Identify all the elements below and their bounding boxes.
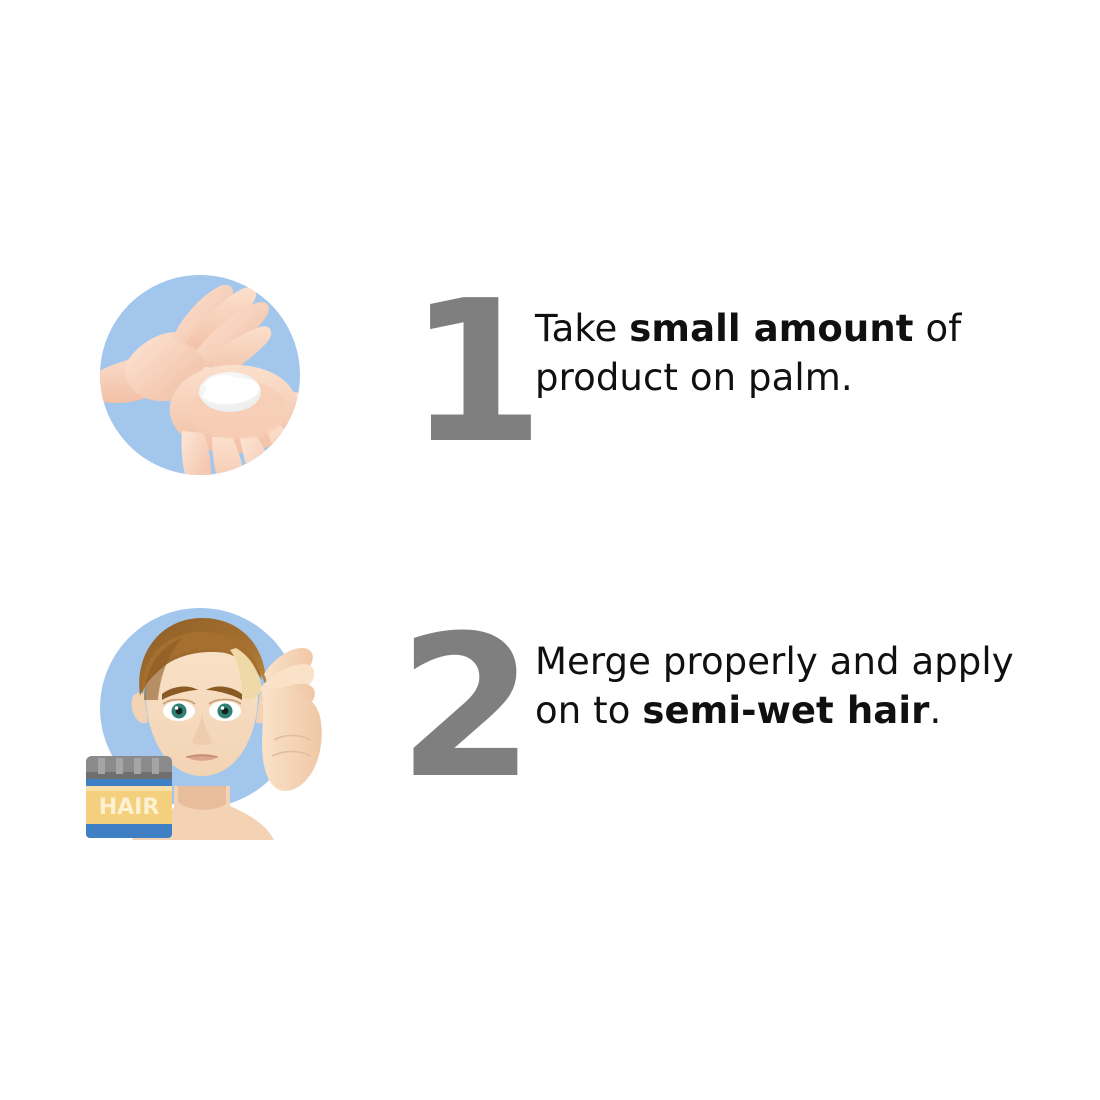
hands-with-cream-icon [78,255,328,510]
instruction-sheet: 1 Take small amount of product on palm. [0,0,1100,1100]
step-1-caption-lead: Take [535,307,629,350]
step-caption-1: Take small amount of product on palm. [535,305,1015,403]
step-caption-2: Merge properly and apply on to semi-wet … [535,638,1015,736]
product-jar-icon: HAIR [86,756,172,838]
man-applying-product-icon: HAIR [78,590,328,845]
applying-to-hair-illustration: HAIR [78,590,328,845]
step-row-1: 1 Take small amount of product on palm. [0,255,1100,515]
step-1-caption-emphasis: small amount [629,307,913,350]
step-2-caption-tail: . [929,689,941,732]
cream-on-palm-illustration [78,255,328,510]
product-jar-label: HAIR [99,795,160,820]
step-number-1: 1 [408,275,542,471]
step-number-2: 2 [398,610,532,806]
step-2-caption-emphasis: semi-wet hair [642,689,929,732]
step-row-2: HAIR 2 Merge properly and apply on to se… [0,590,1100,850]
